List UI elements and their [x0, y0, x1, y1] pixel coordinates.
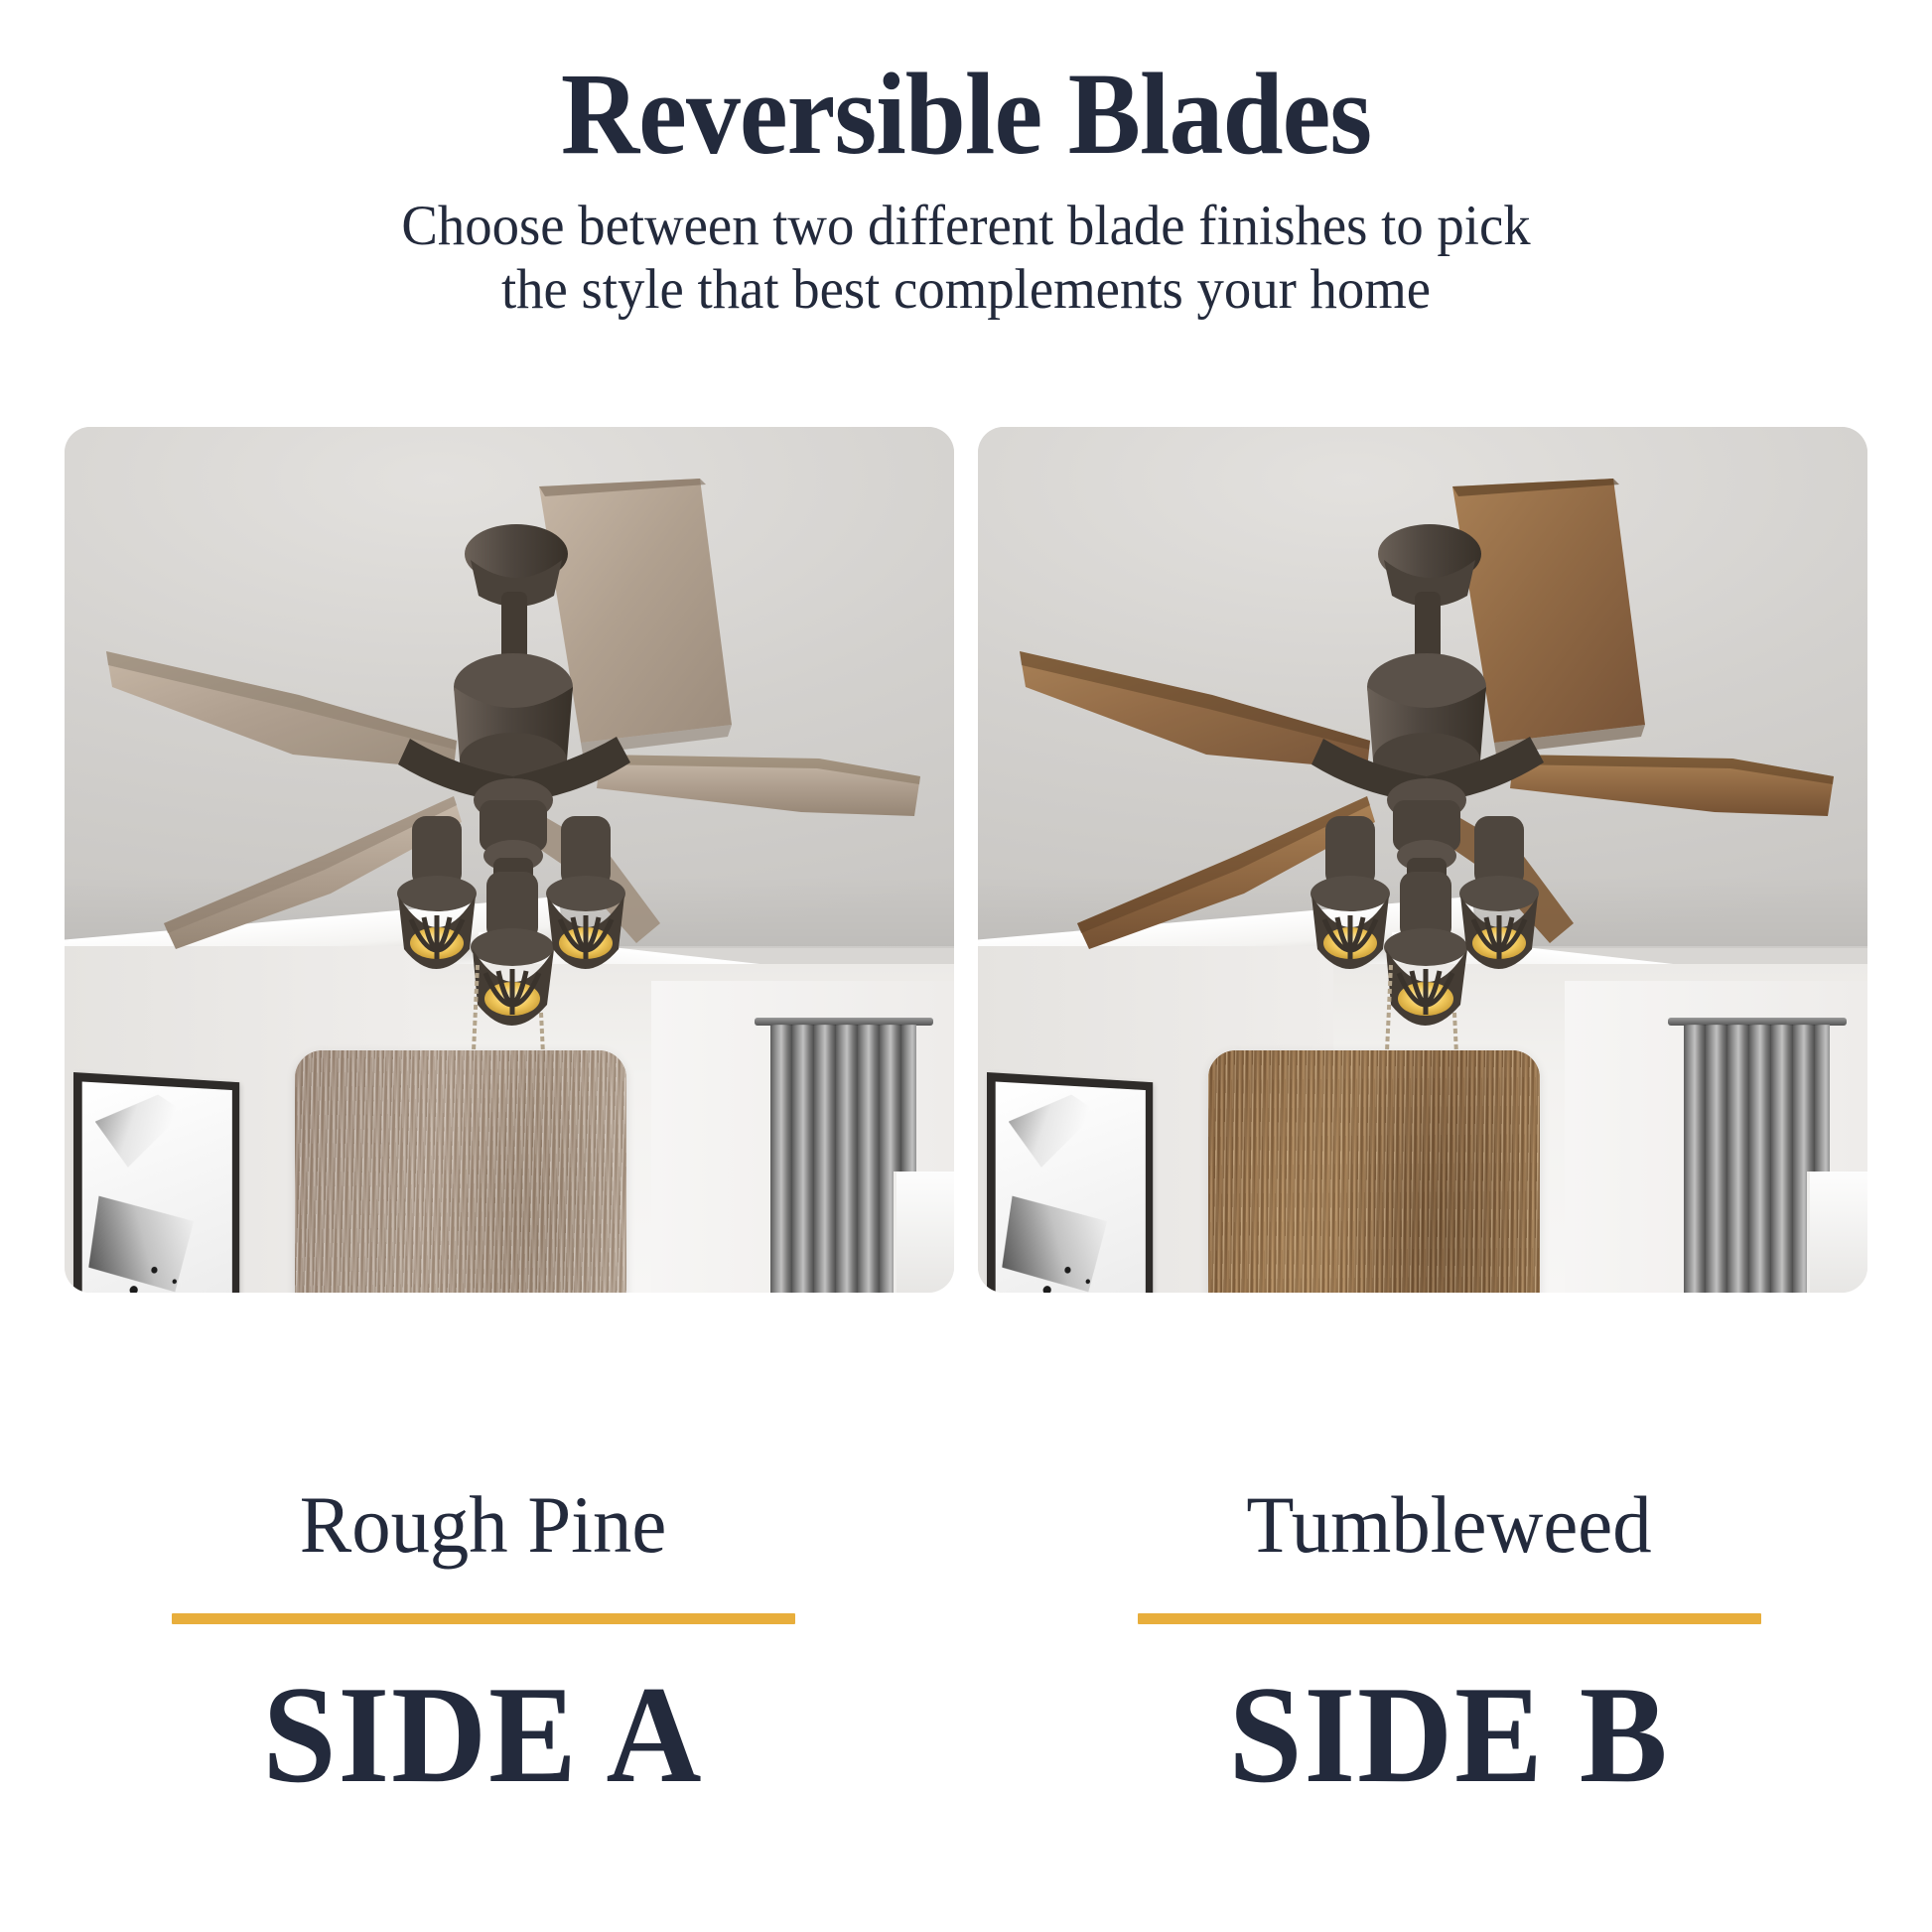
side-label-side-b: SIDE B: [990, 1666, 1907, 1805]
page-subtitle-line-1: Choose between two different blade finis…: [222, 195, 1710, 258]
gold-divider-side-b: [1138, 1613, 1761, 1624]
gold-divider-side-a: [172, 1613, 795, 1624]
tumbleweed-grain-texture: [1208, 1050, 1540, 1293]
side-label-side-a: SIDE A: [24, 1666, 941, 1805]
page-subtitle: Choose between two different blade finis…: [222, 195, 1710, 322]
rough-pine-grain-texture: [295, 1050, 626, 1293]
header: Reversible Blades Choose between two dif…: [0, 0, 1932, 322]
caption-side-b: Tumbleweed SIDE B: [966, 1484, 1932, 1805]
page-title: Reversible Blades: [68, 56, 1864, 173]
page-subtitle-line-2: the style that best complements your hom…: [222, 258, 1710, 322]
panel-side-a[interactable]: [65, 427, 954, 1293]
caption-side-a: Rough Pine SIDE A: [0, 1484, 966, 1805]
comparison-panels: [65, 427, 1867, 1293]
rough-pine-wood-swatch[interactable]: [295, 1050, 626, 1293]
finish-name-side-b: Tumbleweed: [985, 1484, 1912, 1566]
tumbleweed-wood-swatch[interactable]: [1208, 1050, 1540, 1293]
panel-side-b[interactable]: [978, 427, 1867, 1293]
captions-row: Rough Pine SIDE A Tumbleweed SIDE B: [0, 1484, 1932, 1805]
finish-name-side-a: Rough Pine: [19, 1484, 946, 1566]
